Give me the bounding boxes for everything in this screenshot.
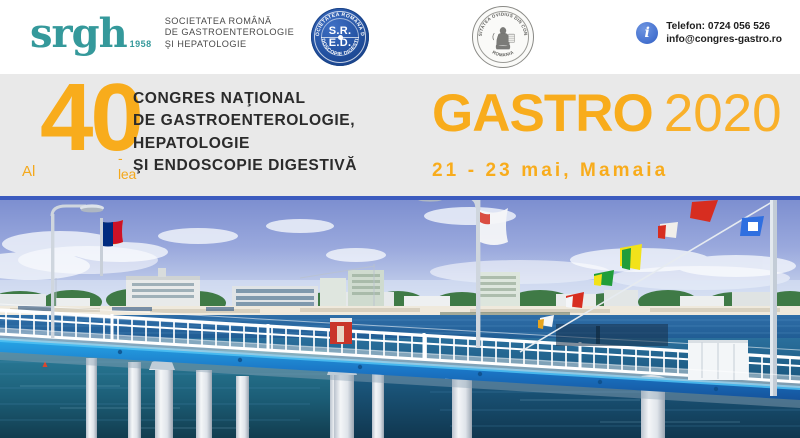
contact-block: i Telefon: 0724 056 526 info@congres-gas… <box>636 20 782 46</box>
contact-email[interactable]: info@congres-gastro.ro <box>666 33 782 46</box>
svg-text:ROMANIA: ROMANIA <box>492 49 515 57</box>
brand-block: GASTRO2020 21 - 23 mai, Mamaia <box>432 86 782 182</box>
pier-scene <box>0 200 800 438</box>
contact-phone[interactable]: Telefon: 0724 056 526 <box>666 20 782 33</box>
ovidius-university-seal-icon[interactable]: UNIVERSITATEA OVIDIUS DIN CONSTANTA ROMA… <box>472 6 534 68</box>
ovidius-seal-art: UNIVERSITATEA OVIDIUS DIN CONSTANTA ROMA… <box>473 7 533 67</box>
event-date-location: 21 - 23 mai, Mamaia <box>432 160 782 182</box>
brand-name: GASTRO <box>432 84 653 143</box>
brand-title-line: GASTRO2020 <box>432 86 782 155</box>
info-icon: i <box>636 22 658 44</box>
congress-poster: srgh 1958 SOCIETATEA ROMÂNĂ DE GASTROENT… <box>0 0 800 438</box>
srgh-founding-year: 1958 <box>130 39 152 49</box>
sred-divider-line <box>321 37 359 38</box>
edition-number-block: Al 40 -lea <box>22 78 132 188</box>
brand-year: 2020 <box>664 84 782 143</box>
edition-prefix: Al <box>22 163 35 180</box>
srgh-society-name: SOCIETATEA ROMÂNĂ DE GASTROENTEROLOGIE Ş… <box>165 16 294 50</box>
srgh-logo[interactable]: srgh 1958 SOCIETATEA ROMÂNĂ DE GASTROENT… <box>30 16 294 51</box>
white-flag <box>480 208 508 245</box>
srgh-wordmark: srgh <box>30 17 127 51</box>
header-bar: srgh 1958 SOCIETATEA ROMÂNĂ DE GASTROENT… <box>0 0 800 74</box>
contact-details: Telefon: 0724 056 526 info@congres-gastr… <box>666 20 782 46</box>
congress-title: CONGRES NAŢIONAL DE GASTROENTEROLOGIE, H… <box>133 88 357 178</box>
sred-badge-icon[interactable]: SOCIETATEA ROMANA DE ENDOSCOPIE DIGESTIV… <box>311 8 369 66</box>
pier-photograph <box>0 200 800 438</box>
